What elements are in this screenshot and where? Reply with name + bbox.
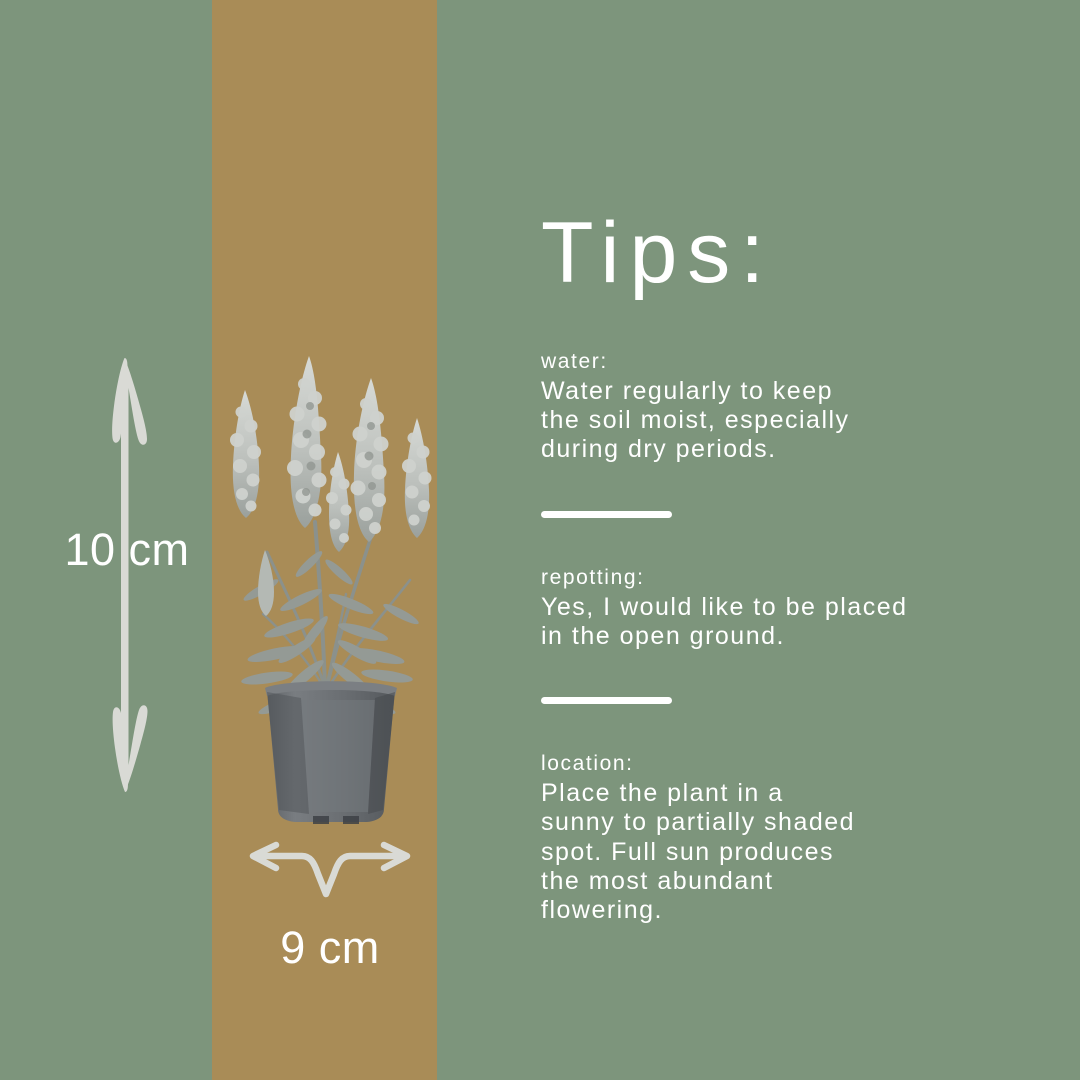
tip-section-location: location: Place the plant in a sunny to … bbox=[541, 750, 1041, 925]
height-measurement-label: 10 cm bbox=[62, 527, 192, 572]
width-measurement-label: 9 cm bbox=[240, 925, 420, 970]
tip-label-repotting: repotting: bbox=[541, 564, 1041, 593]
tips-title: Tips: bbox=[541, 210, 1041, 296]
tip-body-repotting: Yes, I would like to be placed in the op… bbox=[541, 593, 1011, 652]
tip-body-water: Water regularly to keep the soil moist, … bbox=[541, 377, 1011, 465]
tip-label-water: water: bbox=[541, 348, 1041, 377]
tip-section-water: water: Water regularly to keep the soil … bbox=[541, 348, 1041, 465]
tips-column: Tips: water: Water regularly to keep the… bbox=[541, 210, 1041, 925]
plant-care-card: 10 cm bbox=[0, 0, 1080, 1080]
height-arrow bbox=[90, 340, 160, 810]
tip-body-location: Place the plant in a sunny to partially … bbox=[541, 779, 1011, 925]
plant-product-image bbox=[205, 332, 455, 832]
width-arrow bbox=[240, 838, 420, 908]
tip-label-location: location: bbox=[541, 750, 1041, 779]
tip-section-repotting: repotting: Yes, I would like to be place… bbox=[541, 564, 1041, 651]
section-divider-1 bbox=[541, 511, 672, 518]
section-divider-2 bbox=[541, 697, 672, 704]
